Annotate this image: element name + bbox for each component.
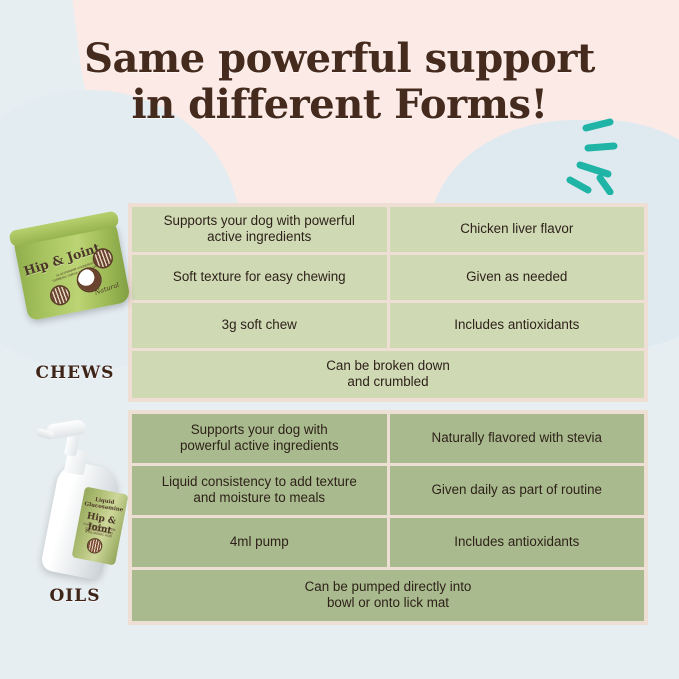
table-cell-line: bowl or onto lick mat — [305, 595, 472, 611]
oils-label-top: Liquid Glucosamine — [84, 495, 125, 513]
table-cell-line: Can be broken down — [326, 358, 450, 374]
table-cell-line: Chicken liver flavor — [460, 221, 573, 237]
table-cell: Soft texture for easy chewing — [132, 255, 387, 300]
table-cell-text: Chicken liver flavor — [460, 221, 573, 237]
table-cell-text: 3g soft chew — [222, 317, 297, 333]
table-cell-line: Includes antioxidants — [454, 534, 579, 550]
table-row: Liquid consistency to add textureand moi… — [132, 466, 644, 515]
table-cell-line: Given as needed — [466, 269, 567, 285]
table-row: Supports your dog withpowerful active in… — [132, 414, 644, 463]
table-cell-line: 4ml pump — [230, 534, 289, 550]
table-cell-line: Can be pumped directly into — [305, 579, 472, 595]
table-cell-text: Soft texture for easy chewing — [173, 269, 346, 285]
table-cell-text: 4ml pump — [230, 534, 289, 550]
table-cell: Given daily as part of routine — [390, 466, 645, 515]
table-cell-text: Liquid consistency to add textureand moi… — [162, 474, 357, 506]
product-image-oils-bottle: Liquid Glucosamine Hip & Joint FOR DOGS … — [22, 412, 140, 582]
table-cell: Includes antioxidants — [390, 303, 645, 348]
table-cell: Can be broken downand crumbled — [132, 351, 644, 398]
table-cell: Chicken liver flavor — [390, 207, 645, 252]
table-cell-text: Includes antioxidants — [454, 534, 579, 550]
table-cell: Naturally flavored with stevia — [390, 414, 645, 463]
table-cell-text: Given daily as part of routine — [432, 482, 602, 498]
table-row: Soft texture for easy chewingGiven as ne… — [132, 255, 644, 300]
table-cell: Includes antioxidants — [390, 518, 645, 567]
table-cell-text: Naturally flavored with stevia — [432, 430, 602, 446]
table-cell-line: Includes antioxidants — [454, 317, 579, 333]
table-cell-line: Supports your dog with powerful — [164, 213, 355, 229]
oils-label-badge — [87, 538, 102, 553]
caption-oils: OILS — [10, 586, 140, 606]
table-cell: Can be pumped directly intobowl or onto … — [132, 570, 644, 621]
table-cell-line: and moisture to meals — [162, 490, 357, 506]
table-cell-line: Soft texture for easy chewing — [173, 269, 346, 285]
caption-chews: CHEWS — [10, 363, 140, 383]
table-cell-line: powerful active ingredients — [180, 438, 339, 454]
infographic-page: Same powerful support in different Forms… — [0, 0, 679, 679]
table-cell: Supports your dog withpowerful active in… — [132, 414, 387, 463]
table-cell-line: Given daily as part of routine — [432, 482, 602, 498]
table-cell-line: Naturally flavored with stevia — [432, 430, 602, 446]
table-cell-text: Can be pumped directly intobowl or onto … — [305, 579, 472, 611]
table-row: Supports your dog with powerfulactive in… — [132, 207, 644, 252]
product-image-chews-jar: Hip & Joint GLUCOSAMINE CHONDROITIN MSM … — [16, 216, 134, 336]
table-cell-line: and crumbled — [326, 374, 450, 390]
oils-comparison-table: Supports your dog withpowerful active in… — [128, 410, 648, 625]
sparkle-burst-icon — [566, 110, 646, 195]
table-cell-text: Can be broken downand crumbled — [326, 358, 450, 390]
chews-jar-graphic: Hip & Joint GLUCOSAMINE CHONDROITIN MSM … — [13, 219, 131, 321]
table-cell: 3g soft chew — [132, 303, 387, 348]
table-row: Can be broken downand crumbled — [132, 351, 644, 398]
table-cell-text: Supports your dog withpowerful active in… — [180, 422, 339, 454]
table-cell-line: active ingredients — [164, 229, 355, 245]
table-cell-line: Liquid consistency to add texture — [162, 474, 357, 490]
table-cell-line: Supports your dog with — [180, 422, 339, 438]
table-cell: Supports your dog with powerfulactive in… — [132, 207, 387, 252]
table-row: Can be pumped directly intobowl or onto … — [132, 570, 644, 621]
table-cell-text: Supports your dog with powerfulactive in… — [164, 213, 355, 245]
table-cell: 4ml pump — [132, 518, 387, 567]
table-row: 4ml pumpIncludes antioxidants — [132, 518, 644, 567]
table-row: 3g soft chewIncludes antioxidants — [132, 303, 644, 348]
chews-comparison-table: Supports your dog with powerfulactive in… — [128, 203, 648, 402]
table-cell-line: 3g soft chew — [222, 317, 297, 333]
table-cell-text: Includes antioxidants — [454, 317, 579, 333]
table-cell: Liquid consistency to add textureand moi… — [132, 466, 387, 515]
table-cell: Given as needed — [390, 255, 645, 300]
table-cell-text: Given as needed — [466, 269, 567, 285]
headline-line-1: Same powerful support — [0, 36, 679, 82]
